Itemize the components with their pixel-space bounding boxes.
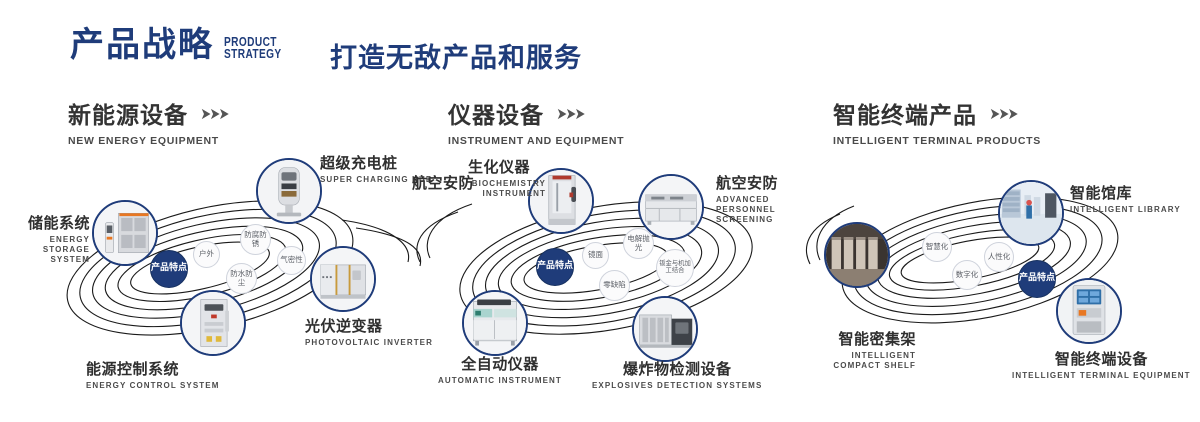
bubble-waterproof-dustproof[interactable]: 防水防尘 [226,263,257,294]
section-title-cn-3: 智能终端产品 ➤➤➤ [833,96,1041,130]
bubble-label-1-1: 防腐防锈 [241,231,270,247]
bubble-center-label-2: 产品特点 [537,262,573,272]
label-cn-2-2: 航空安防 [716,172,808,193]
explosives-detection-photo [634,298,696,360]
super-charging-hub-photo [258,160,320,222]
energy-control-system-photo [182,292,244,354]
label-cn-3-1: 智能密集架 [812,328,916,349]
section-title-en-3: INTELLIGENT TERMINAL PRODUCTS [833,135,1041,147]
node-photo-photovoltaic-inverter[interactable] [310,246,376,312]
bubble-airtightness[interactable]: 气密性 [277,246,306,275]
section-header-new-energy: 新能源设备 ➤➤➤ NEW ENERGY EQUIPMENT [68,96,231,147]
section-header-intelligent-terminal: 智能终端产品 ➤➤➤ INTELLIGENT TERMINAL PRODUCTS [833,96,1041,147]
section-title-cn-1: 新能源设备 ➤➤➤ [68,96,231,130]
label-en-1-3: ENERGY CONTROL SYSTEM [86,381,220,390]
product-strategy-infographic: 产品战略 PRODUCT STRATEGY 打造无敌产品和服务 新能源设备 ➤➤… [0,0,1200,422]
label-energy-control-system: 能源控制系统 ENERGY CONTROL SYSTEM [86,358,220,390]
bubble-mirror-finish[interactable]: 镜面 [582,242,609,269]
section-title-cn-2: 仪器设备 ➤➤➤ [448,96,624,130]
label-cn-2-0: 航空安防 [412,172,474,193]
energy-storage-photo [94,202,156,264]
bubble-label-3-1: 数字化 [956,271,979,279]
bubble-label-2-2: 零缺陷 [603,281,626,289]
label-en-1-0: ENERGY STORAGE SYSTEM [4,235,90,265]
bubble-outdoor[interactable]: 户外 [193,241,220,268]
bubble-intelligentization[interactable]: 智慧化 [922,232,952,262]
label-en-2-3: AUTOMATIC INSTRUMENT [438,376,562,385]
label-cn-2-4: 爆炸物检测设备 [592,358,762,379]
label-biochemistry-instrument: 生化仪器 BIOCHEMISTRY INSTRUMENT [468,156,546,199]
label-cn-3-0: 智能馆库 [1070,182,1181,203]
label-advanced-personnel-screening: 航空安防 ADVANCED PERSONNEL SCREENING [716,172,808,225]
label-cn-2-1: 生化仪器 [468,156,546,177]
bubble-label-3-2: 人性化 [988,253,1011,261]
label-en-2-2: ADVANCED PERSONNEL SCREENING [716,195,808,225]
bubble-label-3-0: 智慧化 [926,243,949,251]
label-intelligent-compact-shelf: 智能密集架 INTELLIGENT COMPACT SHELF [812,328,916,371]
intelligent-library-photo [1000,182,1062,244]
node-photo-advanced-personnel-screening[interactable] [638,174,704,240]
bubble-center-product-features-3[interactable]: 产品特点 [1018,260,1056,298]
bubble-label-1-2: 防水防尘 [227,270,256,286]
node-photo-automatic-instrument[interactable] [462,290,528,356]
chevrons-right-icon-3: ➤➤➤ [989,104,1016,123]
bubble-label-1-0: 户外 [199,250,214,258]
bubble-label-2-1: 电解抛光 [624,235,653,251]
node-photo-explosives-detection[interactable] [632,296,698,362]
node-photo-energy-control-system[interactable] [180,290,246,356]
label-energy-storage-system: 储能系统 ENERGY STORAGE SYSTEM [4,212,90,265]
photovoltaic-inverter-photo [312,248,374,310]
label-aviation-security-left: 航空安防 [412,172,474,193]
section-label-1: 新能源设备 [68,96,188,130]
page-header: 产品战略 PRODUCT STRATEGY [70,28,298,62]
node-photo-super-charging-hub[interactable] [256,158,322,224]
bubble-center-label-3: 产品特点 [1019,274,1055,284]
page-title-cn: 产品战略 [70,28,214,62]
label-intelligent-terminal-equipment: 智能终端设备 INTELLIGENT TERMINAL EQUIPMENT [1012,348,1191,380]
node-photo-energy-storage[interactable] [92,200,158,266]
page-title-en-line2: STRATEGY [224,48,282,60]
intelligent-terminal-equipment-photo [1058,280,1120,342]
page-slogan: 打造无敌产品和服务 [330,36,582,75]
automatic-instrument-photo [464,292,526,354]
label-en-2-1: BIOCHEMISTRY INSTRUMENT [468,179,546,199]
intelligent-compact-shelf-photo [826,224,888,286]
label-automatic-instrument: 全自动仪器 AUTOMATIC INSTRUMENT [438,353,562,385]
node-photo-intelligent-library[interactable] [998,180,1064,246]
node-photo-intelligent-terminal-equipment[interactable] [1056,278,1122,344]
label-en-2-4: EXPLOSIVES DETECTION SYSTEMS [592,381,762,390]
cluster-intelligent-terminal: 产品特点 智慧化 数字化 人性化 智能馆库 INTELLIGENT LIBRAR… [800,150,1200,400]
label-explosives-detection-systems: 爆炸物检测设备 EXPLOSIVES DETECTION SYSTEMS [592,358,762,390]
bubble-digitalization[interactable]: 数字化 [952,260,982,290]
section-header-instrument: 仪器设备 ➤➤➤ INSTRUMENT AND EQUIPMENT [448,96,624,147]
label-cn-3-2: 智能终端设备 [1012,348,1191,369]
section-label-3: 智能终端产品 [833,96,977,130]
label-en-3-0: INTELLIGENT LIBRARY [1070,205,1181,214]
bubble-center-product-features-2[interactable]: 产品特点 [536,248,574,286]
cluster-instrument: 产品特点 镜面 电解抛光 零缺陷 钣金与机加工结合 航空安防 生化仪器 BIOC… [410,150,830,400]
bubble-anti-corrosion[interactable]: 防腐防锈 [240,224,271,255]
label-cn-1-3: 能源控制系统 [86,358,220,379]
section-label-2: 仪器设备 [448,96,544,130]
label-intelligent-library: 智能馆库 INTELLIGENT LIBRARY [1070,182,1181,214]
advanced-personnel-screening-photo [640,176,702,238]
bubble-sheet-metal-machining[interactable]: 钣金与机加工结合 [656,249,694,287]
bubble-center-label-1: 产品特点 [151,264,187,274]
chevrons-right-icon-2: ➤➤➤ [556,104,583,123]
bubble-humanization[interactable]: 人性化 [984,242,1014,272]
label-en-3-1: INTELLIGENT COMPACT SHELF [824,351,916,371]
bubble-label-1-3: 气密性 [280,256,303,264]
label-cn-2-3: 全自动仪器 [438,353,562,374]
page-title-en: PRODUCT STRATEGY [224,36,282,60]
node-photo-intelligent-compact-shelf[interactable] [824,222,890,288]
label-cn-1-0: 储能系统 [4,212,90,233]
bubble-label-2-0: 镜面 [588,251,603,259]
section-title-en-2: INSTRUMENT AND EQUIPMENT [448,135,624,147]
section-title-en-1: NEW ENERGY EQUIPMENT [68,135,231,147]
bubble-label-2-3: 钣金与机加工结合 [657,261,693,275]
cluster-new-energy: 产品特点 户外 防腐防锈 防水防尘 气密性 储能系统 ENERGY STORAG… [20,150,440,400]
bubble-center-product-features-1[interactable]: 产品特点 [150,250,188,288]
chevrons-right-icon-1: ➤➤➤ [200,104,227,123]
label-en-3-2: INTELLIGENT TERMINAL EQUIPMENT [1012,371,1191,380]
bubble-electrolytic-polishing[interactable]: 电解抛光 [623,228,654,259]
bubble-zero-defect[interactable]: 零缺陷 [599,270,630,301]
